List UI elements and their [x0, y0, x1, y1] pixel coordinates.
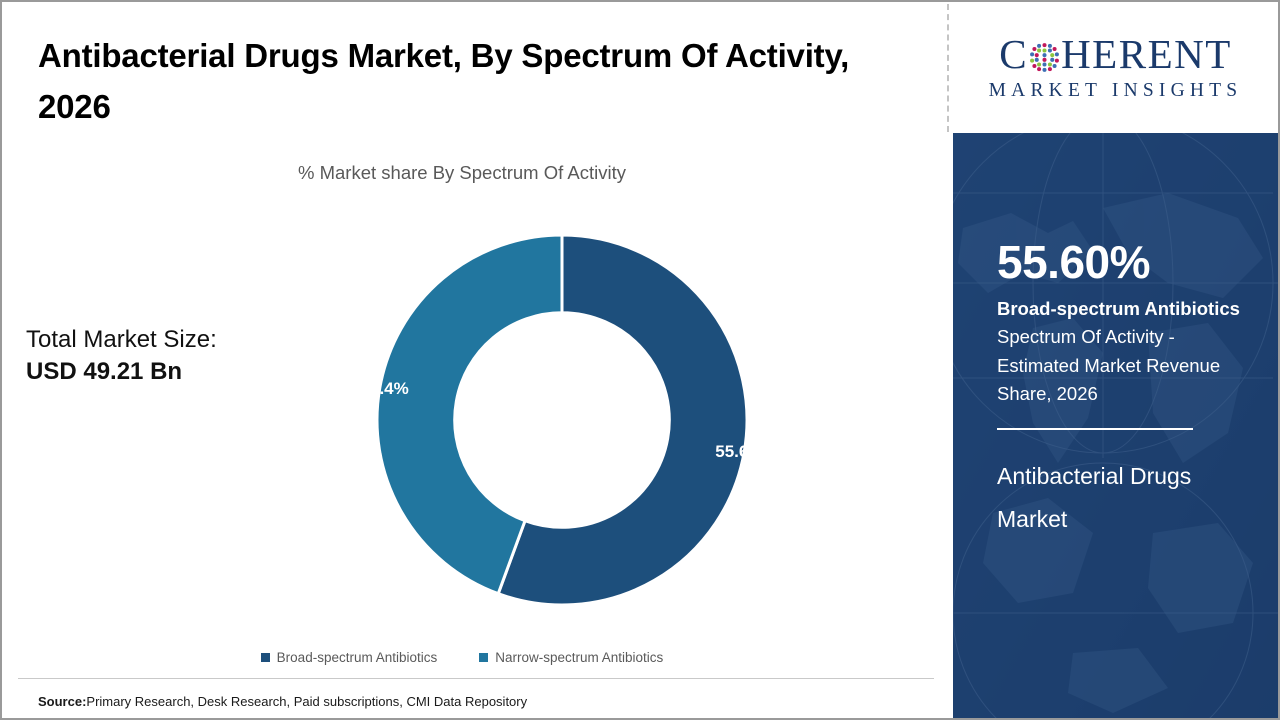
infographic-page: Antibacterial Drugs Market, By Spectrum …	[0, 0, 1280, 720]
stat-description-rest: Spectrum Of Activity - Estimated Market …	[997, 326, 1220, 403]
globe-dots-icon	[1029, 39, 1060, 70]
source-line: Source:Primary Research, Desk Research, …	[38, 694, 527, 709]
brand-logo[interactable]: C	[953, 2, 1278, 133]
donut-data-label: 44.4%	[362, 379, 409, 398]
stat-panel-divider	[997, 428, 1193, 430]
legend-item-narrow-spectrum[interactable]: Narrow-spectrum Antibiotics	[479, 650, 663, 665]
logo-tagline: MARKET INSIGHTS	[989, 80, 1243, 102]
main-content-area: Antibacterial Drugs Market, By Spectrum …	[2, 2, 949, 718]
source-divider	[18, 678, 934, 679]
total-market-size-value: USD 49.21 Bn	[26, 356, 217, 388]
page-title: Antibacterial Drugs Market, By Spectrum …	[38, 30, 858, 132]
stat-panel: 55.60% Broad-spectrum Antibiotics Spectr…	[953, 133, 1278, 718]
total-market-size-label: Total Market Size:	[26, 324, 217, 356]
legend-item-broad-spectrum[interactable]: Broad-spectrum Antibiotics	[261, 650, 438, 665]
logo-wordmark: C	[999, 34, 1232, 75]
source-text: Primary Research, Desk Research, Paid su…	[86, 694, 527, 709]
stat-description: Broad-spectrum Antibiotics Spectrum Of A…	[997, 295, 1247, 407]
donut-chart-svg: 55.6%44.4%	[362, 220, 762, 620]
chart-subtitle: % Market share By Spectrum Of Activity	[2, 162, 922, 184]
donut-data-label: 55.6%	[715, 442, 762, 461]
logo-letters-herent: HERENT	[1061, 34, 1232, 75]
legend-label-broad-spectrum: Broad-spectrum Antibiotics	[277, 650, 438, 665]
legend-label-narrow-spectrum: Narrow-spectrum Antibiotics	[495, 650, 663, 665]
legend-swatch-narrow-spectrum	[479, 653, 488, 662]
donut-chart: 55.6%44.4%	[362, 220, 762, 620]
donut-slice-group	[377, 235, 747, 605]
legend-swatch-broad-spectrum	[261, 653, 270, 662]
stat-panel-content: 55.60% Broad-spectrum Antibiotics Spectr…	[997, 238, 1247, 542]
source-label: Source:	[38, 694, 86, 709]
market-name: Antibacterial Drugs Market	[997, 455, 1247, 542]
total-market-size: Total Market Size: USD 49.21 Bn	[26, 324, 217, 389]
logo-letter-c: C	[999, 34, 1028, 75]
stat-value: 55.60%	[997, 238, 1247, 286]
chart-legend: Broad-spectrum Antibiotics Narrow-spectr…	[2, 650, 922, 665]
stat-description-segment: Broad-spectrum Antibiotics	[997, 298, 1240, 319]
vertical-dashed-divider	[947, 4, 949, 132]
